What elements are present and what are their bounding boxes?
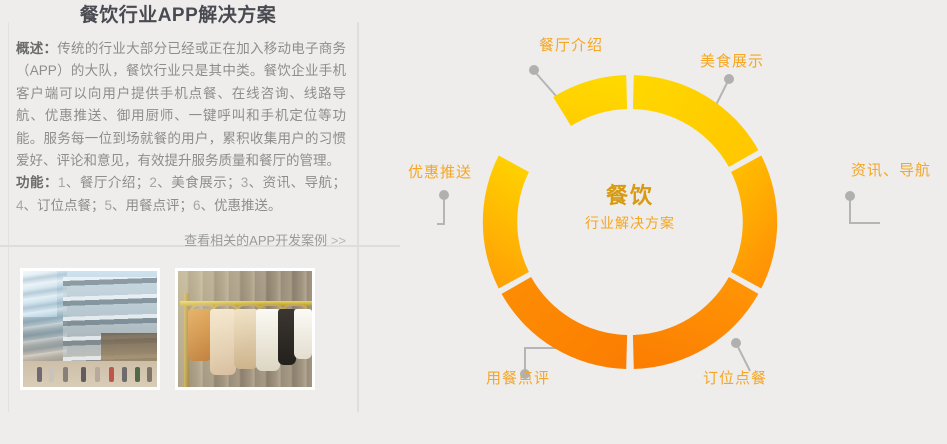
panel-left-border [8, 22, 9, 412]
donut-segment-promotions[interactable] [483, 156, 529, 289]
pedestrian [63, 367, 68, 382]
connector-line-news-nav [850, 198, 880, 223]
connector-line-promotions [437, 197, 444, 224]
panel-vertical-divider [357, 22, 359, 412]
donut-label-booking-ordering[interactable]: 订位点餐 [703, 367, 767, 388]
overview-text: 传统的行业大部分已经或正在加入移动电子商务（APP）的大队，餐饮行业只是其中类。… [16, 41, 346, 168]
donut-label-promotions[interactable]: 优惠推送 [408, 161, 472, 182]
donut-label-news-navigation[interactable]: 资讯、导航 [851, 159, 931, 180]
pedestrian [122, 367, 127, 382]
pedestrian [109, 367, 114, 382]
connector-dot-restaurant-intro [529, 65, 539, 75]
pedestrian [147, 367, 152, 382]
feature-text: 、餐厅介绍； [65, 175, 149, 190]
donut-segment-booking-ordering[interactable] [633, 277, 759, 369]
panel-body-text: 概述：传统的行业大部分已经或正在加入移动电子商务（APP）的大队，餐饮行业只是其… [16, 38, 346, 217]
view-cases-label: 查看相关的APP开发案例 [184, 233, 327, 248]
features-label: 功能： [16, 175, 58, 190]
connector-dot-news-nav [845, 191, 855, 201]
connector-dot-booking [731, 338, 741, 348]
donut-segments [483, 75, 777, 369]
rack-photo-art [178, 271, 312, 387]
pedestrian [81, 367, 86, 382]
features-list: 1、餐厅介绍；2、美食展示；3、资讯、导航；4、订位点餐；5、用餐点评；6、优惠… [16, 175, 346, 212]
page-root: 餐饮行业APP解决方案 概述：传统的行业大部分已经或正在加入移动电子商务（APP… [0, 0, 947, 444]
donut-segment-news-navigation[interactable] [731, 156, 777, 289]
feature-text: 、用餐点评； [112, 198, 193, 213]
page-title: 餐饮行业APP解决方案 [0, 2, 356, 30]
pedestrian [95, 367, 100, 382]
overview-label: 概述： [16, 41, 57, 56]
features-paragraph: 功能：1、餐厅介绍；2、美食展示；3、资讯、导航；4、订位点餐；5、用餐点评；6… [16, 172, 346, 217]
feature-number: 2 [149, 175, 157, 190]
pedestrian [37, 367, 42, 382]
feature-number: 6 [193, 198, 201, 213]
connector-dot-promotions [439, 190, 449, 200]
view-cases-link[interactable]: 查看相关的APP开发案例 >> [16, 230, 346, 249]
feature-number: 4 [16, 198, 24, 213]
feature-text: 、优惠推送。 [201, 198, 282, 213]
view-cases-arrows: >> [331, 233, 346, 248]
solution-donut-diagram: 餐饮 行业解决方案 餐厅介绍 美食展示 资讯、导航 订位点餐 用餐点评 优惠推送 [372, 0, 947, 444]
donut-segment-food-display[interactable] [633, 75, 759, 167]
glass-shopping-mall-photo[interactable] [20, 268, 160, 390]
donut-segment-restaurant-intro[interactable] [553, 75, 627, 126]
feature-text: 、美食展示； [157, 175, 241, 190]
feature-text: 、资讯、导航； [248, 175, 346, 190]
donut-segment-dining-reviews[interactable] [502, 277, 627, 369]
pedestrian [135, 367, 140, 382]
connector-dot-food-display [724, 74, 734, 84]
donut-chart-svg [372, 0, 947, 444]
donut-label-food-display[interactable]: 美食展示 [700, 50, 764, 71]
pedestrian [49, 367, 54, 382]
donut-label-restaurant-intro[interactable]: 餐厅介绍 [539, 34, 603, 55]
overview-paragraph: 概述：传统的行业大部分已经或正在加入移动电子商务（APP）的大队，餐饮行业只是其… [16, 38, 346, 172]
sunlight-overlay [178, 271, 312, 387]
donut-label-dining-reviews[interactable]: 用餐点评 [486, 367, 550, 388]
solution-info-panel: 餐饮行业APP解决方案 概述：传统的行业大部分已经或正在加入移动电子商务（APP… [0, 0, 372, 444]
mall-photo-art [23, 271, 157, 387]
feature-number: 5 [105, 198, 113, 213]
feature-text: 、订位点餐； [24, 198, 105, 213]
clothing-rack-photo[interactable] [175, 268, 315, 390]
